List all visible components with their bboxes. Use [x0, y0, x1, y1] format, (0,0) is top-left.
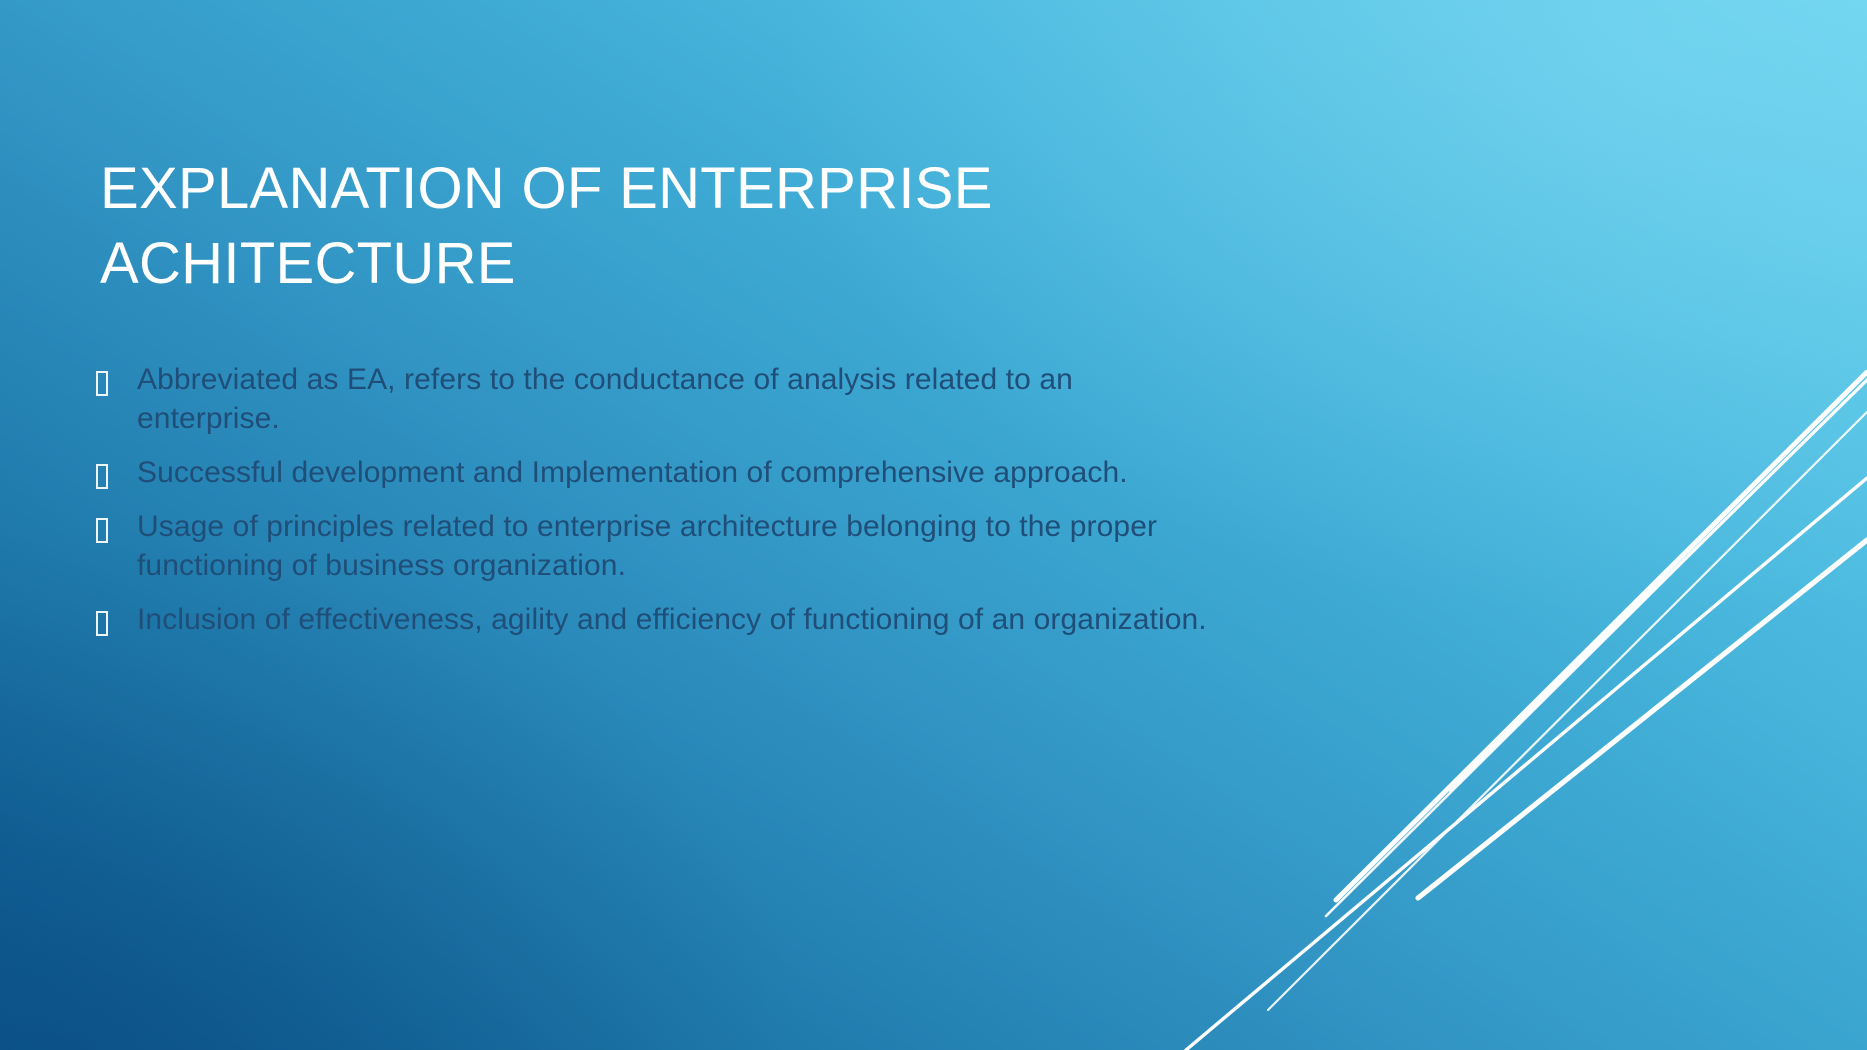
slide-body-content: Abbreviated as EA, refers to the conduct… [96, 360, 1216, 654]
diagonal-streaks-decoration [1150, 370, 1867, 1050]
presentation-slide: Explanation of Enterprise Achitecture Ab… [0, 0, 1867, 1050]
streak-line-3 [1326, 396, 1850, 916]
bullet-text: Usage of principles related to enterpris… [137, 507, 1216, 585]
bullet-text: Inclusion of effectiveness, agility and … [137, 600, 1216, 639]
slide-title: Explanation of Enterprise Achitecture [100, 151, 1280, 302]
list-item: Abbreviated as EA, refers to the conduct… [96, 360, 1216, 438]
streak-line-4 [1268, 412, 1867, 1010]
streak-line-1 [1450, 380, 1867, 790]
list-item: Successful development and Implementatio… [96, 453, 1216, 492]
bullet-text: Successful development and Implementatio… [137, 453, 1216, 492]
bullet-box-icon [96, 518, 108, 543]
bullet-box-icon [96, 371, 108, 396]
streak-line-5 [1186, 478, 1867, 1050]
bullet-box-icon [96, 611, 108, 636]
bullet-text: Abbreviated as EA, refers to the conduct… [137, 360, 1216, 438]
streak-line-2 [1336, 372, 1867, 900]
bullet-box-icon [96, 464, 108, 489]
list-item: Inclusion of effectiveness, agility and … [96, 600, 1216, 639]
streak-line-6 [1418, 540, 1867, 898]
list-item: Usage of principles related to enterpris… [96, 507, 1216, 585]
